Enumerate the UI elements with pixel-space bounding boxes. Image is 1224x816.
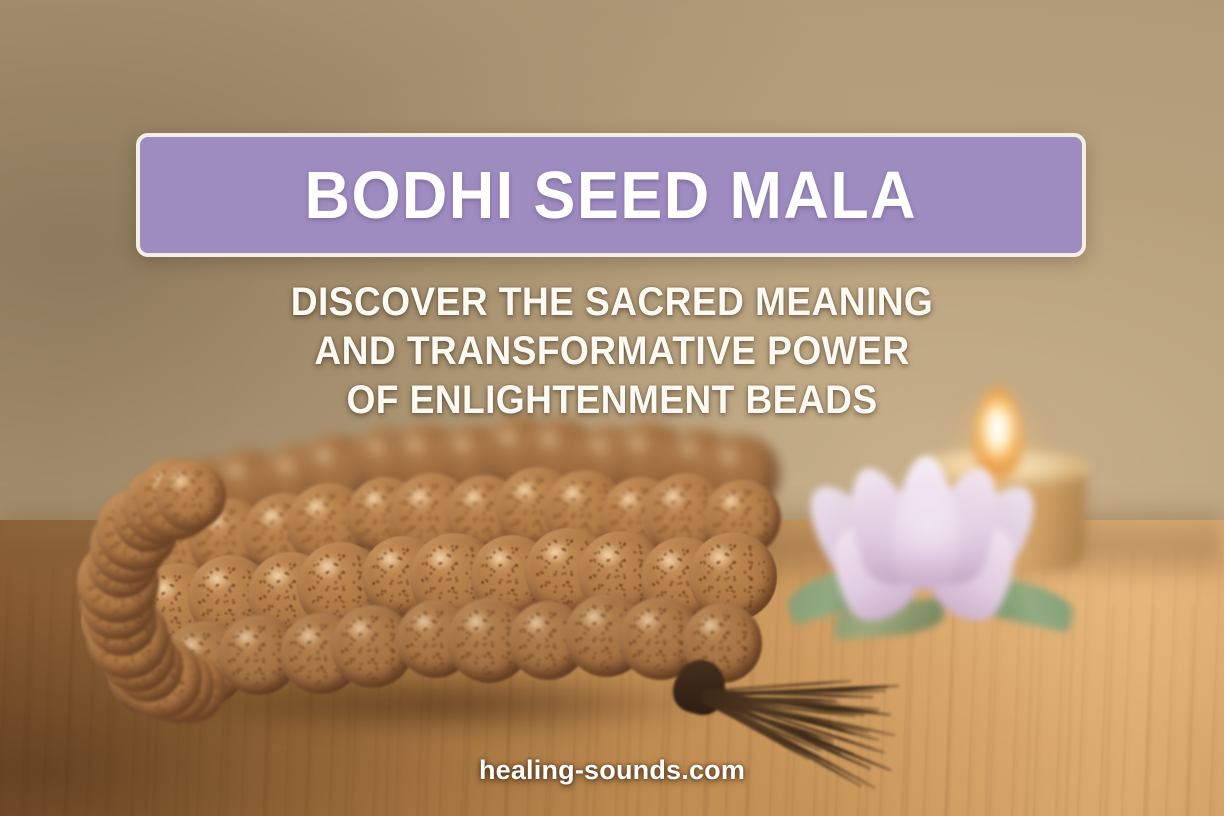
subtitle-line-3: OF ENLIGHTENMENT BEADS [43, 376, 1181, 425]
mala-bead [156, 461, 226, 531]
subtitle-block: DISCOVER THE SACRED MEANING AND TRANSFOR… [0, 278, 1224, 425]
poster-canvas: BODHI SEED MALA DISCOVER THE SACRED MEAN… [0, 0, 1224, 816]
subtitle-line-1: DISCOVER THE SACRED MEANING [43, 278, 1181, 327]
page-title: BODHI SEED MALA [305, 162, 917, 229]
subtitle-line-2: AND TRANSFORMATIVE POWER [43, 327, 1181, 376]
title-banner: BODHI SEED MALA [136, 133, 1086, 257]
website-url: healing-sounds.com [0, 755, 1224, 786]
